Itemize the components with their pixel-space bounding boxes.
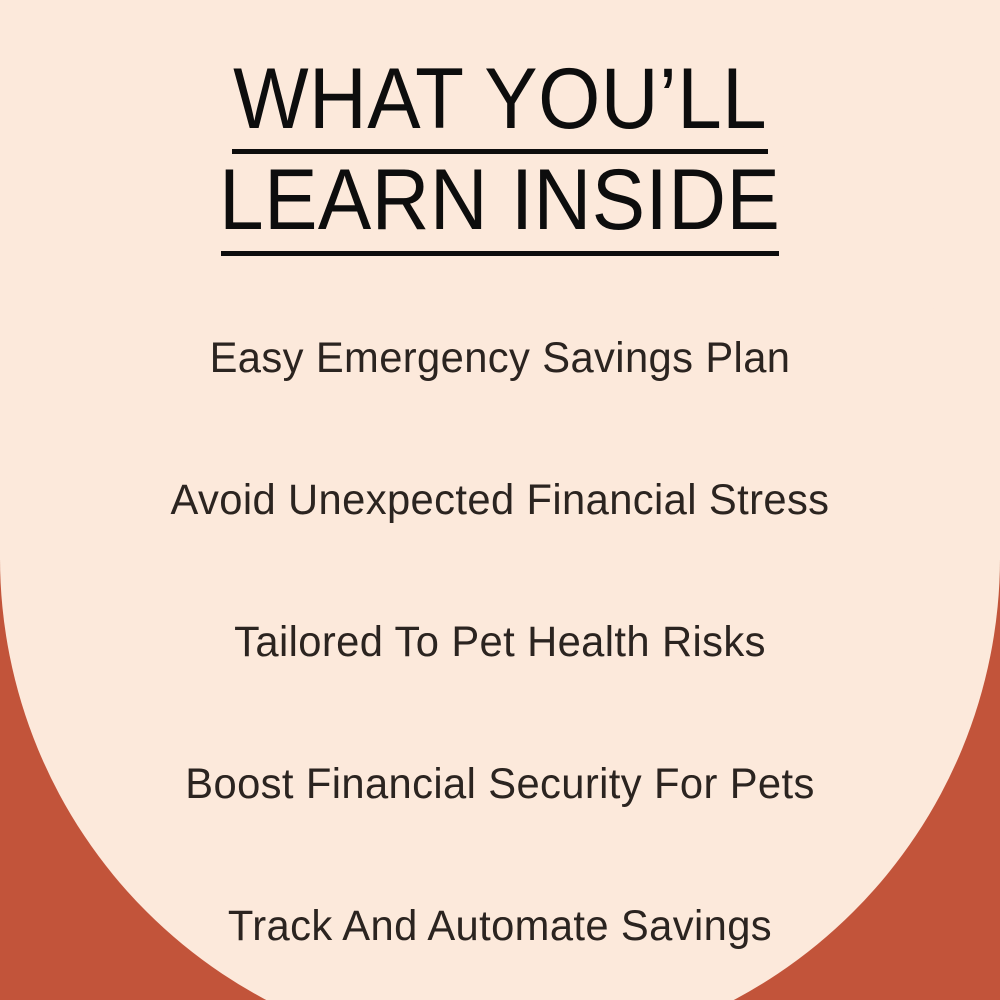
- heading-line-2: LEARN INSIDE: [218, 157, 783, 253]
- page-title: WHAT YOU’LL LEARN INSIDE: [0, 56, 1000, 256]
- list-item-label: Boost Financial Security For Pets: [185, 760, 814, 809]
- list-item: Boost Financial Security For Pets: [15, 714, 985, 856]
- slide-content: WHAT YOU’LL LEARN INSIDE Easy Emergency …: [0, 0, 1000, 1000]
- heading-line-2-wrap: LEARN INSIDE: [0, 157, 1000, 253]
- list-item: Track And Automate Savings: [15, 856, 985, 998]
- learn-list: Easy Emergency Savings Plan Avoid Unexpe…: [0, 288, 1000, 998]
- heading-line-1-wrap: WHAT YOU’LL: [0, 56, 1000, 152]
- heading-line-2-block: LEARN INSIDE: [0, 157, 1000, 256]
- heading-line-1: WHAT YOU’LL: [231, 56, 769, 152]
- list-item: Avoid Unexpected Financial Stress: [15, 430, 985, 572]
- list-item-label: Tailored To Pet Health Risks: [234, 618, 766, 667]
- list-item-label: Avoid Unexpected Financial Stress: [171, 476, 830, 525]
- list-item: Easy Emergency Savings Plan: [15, 288, 985, 430]
- heading-line-1-block: WHAT YOU’LL: [0, 56, 1000, 154]
- list-item: Tailored To Pet Health Risks: [15, 572, 985, 714]
- list-item-label: Track And Automate Savings: [228, 902, 772, 951]
- list-item-label: Easy Emergency Savings Plan: [210, 334, 791, 383]
- slide-canvas: WHAT YOU’LL LEARN INSIDE Easy Emergency …: [0, 0, 1000, 1000]
